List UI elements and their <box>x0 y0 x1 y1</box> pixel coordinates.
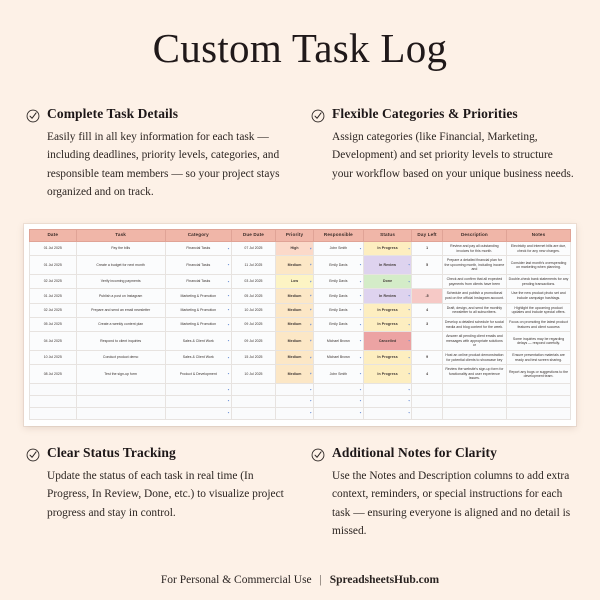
chevron-down-icon[interactable]: ▾ <box>408 356 410 359</box>
cell-due-date[interactable]: 09 Jul 2025 <box>231 332 275 351</box>
chevron-down-icon[interactable]: ▾ <box>310 400 312 403</box>
cell-status[interactable]: In Progress▾ <box>363 241 412 255</box>
cell-notes[interactable]: Electricity and internet bills are due, … <box>507 241 571 255</box>
cell-priority[interactable]: Medium▾ <box>276 350 314 364</box>
chevron-down-icon[interactable]: ▾ <box>360 373 362 376</box>
cell-status[interactable]: In Progress▾ <box>363 303 412 317</box>
priority-badge: Medium <box>278 354 312 362</box>
cell-priority[interactable]: Medium▾ <box>276 289 314 303</box>
priority-badge: Medium <box>278 306 312 314</box>
feature-additional-notes-for-clarity: Additional Notes for Clarity Use the Not… <box>311 446 574 541</box>
cell-category[interactable]: ▾Marketing & Promotion <box>165 289 231 303</box>
cell-empty[interactable] <box>507 395 571 407</box>
cell-date[interactable]: 01 Jul 2025 <box>30 256 77 275</box>
cell-responsible[interactable]: ▾Emily Davis <box>313 303 363 317</box>
cell-responsible[interactable]: ▾John Smith <box>313 241 363 255</box>
chevron-down-icon[interactable]: ▾ <box>360 356 362 359</box>
cell-day-left[interactable]: 4 <box>412 365 442 384</box>
cell-notes[interactable]: Double-check bank statements for any pen… <box>507 274 571 288</box>
feature-body: Update the status of each task in real t… <box>47 467 289 522</box>
cell-responsible[interactable]: ▾Emily Davis <box>313 317 363 331</box>
cell-empty[interactable] <box>507 407 571 419</box>
cell-empty[interactable] <box>76 384 165 396</box>
chevron-down-icon[interactable]: ▾ <box>408 400 410 403</box>
chevron-down-icon[interactable]: ▾ <box>408 373 410 376</box>
priority-badge: Medium <box>278 370 312 378</box>
cell-task[interactable]: Conduct product demo <box>76 350 165 364</box>
cell-task[interactable]: Create a budget for next month <box>76 256 165 275</box>
table-row[interactable]: 01 Jul 2025Publish a post on Instagram▾M… <box>30 289 571 303</box>
feature-body: Assign categories (like Financial, Marke… <box>332 128 574 183</box>
cell-responsible[interactable]: ▾Emily Davis <box>313 274 363 288</box>
chevron-down-icon[interactable]: ▾ <box>360 247 362 250</box>
feature-row-bottom: Clear Status Tracking Update the status … <box>0 446 600 541</box>
feature-heading: Additional Notes for Clarity <box>311 446 574 462</box>
feature-heading: Complete Task Details <box>26 107 289 123</box>
cell-due-date[interactable]: 10 Jul 2025 <box>231 303 275 317</box>
chevron-down-icon[interactable]: ▾ <box>310 247 312 250</box>
table-row[interactable]: 01 Jul 2025Pay the bills▾Financial Tasks… <box>30 241 571 255</box>
cell-empty[interactable]: ▾ <box>276 407 314 419</box>
chevron-down-icon[interactable]: ▾ <box>310 388 312 391</box>
chevron-down-icon[interactable]: ▾ <box>360 309 362 312</box>
chevron-down-icon[interactable]: ▾ <box>360 264 362 267</box>
cell-empty[interactable] <box>442 384 506 396</box>
chevron-down-icon[interactable]: ▾ <box>408 294 410 297</box>
chevron-down-icon[interactable]: ▾ <box>228 356 230 359</box>
cell-priority[interactable]: Low▾ <box>276 274 314 288</box>
cell-notes[interactable]: Highlight the upcoming product updates a… <box>507 303 571 317</box>
chevron-down-icon[interactable]: ▾ <box>408 323 410 326</box>
cell-notes[interactable]: Use the new product photo set and includ… <box>507 289 571 303</box>
cell-empty[interactable] <box>412 384 442 396</box>
column-header-due-date[interactable]: Due Date <box>231 229 275 241</box>
cell-description[interactable]: Draft, design, and send the monthly news… <box>442 303 506 317</box>
table-row-empty[interactable]: ▾▾▾▾ <box>30 407 571 419</box>
chevron-down-icon[interactable]: ▾ <box>228 264 230 267</box>
feature-row-top: Complete Task Details Easily fill in all… <box>0 107 600 202</box>
column-header-priority[interactable]: Priority <box>276 229 314 241</box>
cell-day-left[interactable]: -5 <box>412 289 442 303</box>
cell-empty[interactable]: ▾ <box>313 384 363 396</box>
cell-description[interactable]: Review and pay all outstanding invoices … <box>442 241 506 255</box>
column-header-notes[interactable]: Notes <box>507 229 571 241</box>
priority-badge: Medium <box>278 337 312 345</box>
footer-brand[interactable]: SpreadsheetsHub.com <box>330 574 439 586</box>
cell-empty[interactable]: ▾ <box>165 407 231 419</box>
chevron-down-icon[interactable]: ▾ <box>228 388 230 391</box>
cell-description[interactable]: Answer all pending client emails and mes… <box>442 332 506 351</box>
table-row[interactable]: 02 Jul 2025Verify incoming payments▾Fina… <box>30 274 571 288</box>
priority-badge: Medium <box>278 261 312 269</box>
cell-empty[interactable] <box>231 384 275 396</box>
priority-badge: Medium <box>278 321 312 329</box>
feature-title: Flexible Categories & Priorities <box>332 107 518 122</box>
footer: For Personal & Commercial Use | Spreadsh… <box>0 574 600 586</box>
cell-empty[interactable]: ▾ <box>165 395 231 407</box>
cell-category[interactable]: ▾Product & Development <box>165 365 231 384</box>
page-title: Custom Task Log <box>0 0 600 69</box>
cell-empty[interactable] <box>30 384 77 396</box>
feature-complete-task-details: Complete Task Details Easily fill in all… <box>26 107 289 202</box>
cell-date[interactable]: 04 Jul 2025 <box>30 332 77 351</box>
cell-notes[interactable]: Ensure presentation materials are ready … <box>507 350 571 364</box>
priority-badge: High <box>278 245 312 253</box>
feature-heading: Flexible Categories & Priorities <box>311 107 574 123</box>
cell-empty[interactable]: ▾ <box>313 395 363 407</box>
check-circle-icon <box>311 109 325 123</box>
cell-due-date[interactable]: 11 Jul 2025 <box>231 256 275 275</box>
footer-usage-text: For Personal & Commercial Use <box>161 574 312 586</box>
status-badge: In Progress <box>365 245 410 253</box>
cell-category[interactable]: ▾Marketing & Promotion <box>165 303 231 317</box>
chevron-down-icon[interactable]: ▾ <box>310 280 312 283</box>
cell-empty[interactable]: ▾ <box>313 407 363 419</box>
cell-status[interactable]: Done▾ <box>363 274 412 288</box>
cell-description[interactable]: Prepare a detailed financial plan for th… <box>442 256 506 275</box>
chevron-down-icon[interactable]: ▾ <box>228 247 230 250</box>
chevron-down-icon[interactable]: ▾ <box>360 340 362 343</box>
status-badge: Done <box>365 278 410 286</box>
chevron-down-icon[interactable]: ▾ <box>228 400 230 403</box>
cell-responsible[interactable]: ▾Michael Brown <box>313 332 363 351</box>
feature-body: Easily fill in all key information for e… <box>47 128 289 202</box>
cell-task[interactable]: Verify incoming payments <box>76 274 165 288</box>
cell-empty[interactable] <box>231 395 275 407</box>
cell-empty[interactable] <box>76 395 165 407</box>
cell-empty[interactable] <box>442 395 506 407</box>
chevron-down-icon[interactable]: ▾ <box>360 412 362 415</box>
cell-empty[interactable] <box>76 407 165 419</box>
cell-notes[interactable]: Focus on promoting the latest product fe… <box>507 317 571 331</box>
chevron-down-icon[interactable]: ▾ <box>408 264 410 267</box>
cell-task[interactable]: Respond to client inquiries <box>76 332 165 351</box>
status-badge: In Progress <box>365 321 410 329</box>
cell-notes[interactable]: Report any bugs or suggestions to the de… <box>507 365 571 384</box>
cell-category[interactable]: ▾Sales & Client Work <box>165 332 231 351</box>
cell-notes[interactable]: Consider last month's overspending on ma… <box>507 256 571 275</box>
feature-body: Use the Notes and Description columns to… <box>332 467 574 541</box>
cell-empty[interactable] <box>412 395 442 407</box>
chevron-down-icon[interactable]: ▾ <box>360 388 362 391</box>
column-header-status[interactable]: Status <box>363 229 412 241</box>
chevron-down-icon[interactable]: ▾ <box>228 373 230 376</box>
cell-due-date[interactable]: 09 Jul 2025 <box>231 317 275 331</box>
footer-separator: | <box>320 574 322 586</box>
table-row-empty[interactable]: ▾▾▾▾ <box>30 384 571 396</box>
cell-priority[interactable]: Medium▾ <box>276 256 314 275</box>
cell-task[interactable]: Create a weekly content plan <box>76 317 165 331</box>
cell-due-date[interactable]: 05 Jul 2025 <box>231 289 275 303</box>
cell-category[interactable]: ▾Financial Tasks <box>165 241 231 255</box>
cell-date[interactable]: 01 Jul 2025 <box>30 289 77 303</box>
cell-status[interactable]: In Progress▾ <box>363 365 412 384</box>
column-header-day-left[interactable]: Day Left <box>412 229 442 241</box>
cell-task[interactable]: Publish a post on Instagram <box>76 289 165 303</box>
cell-responsible[interactable]: ▾John Smith <box>313 365 363 384</box>
task-log-table: Date Task Category Due Date Priority Res… <box>29 229 571 420</box>
chevron-down-icon[interactable]: ▾ <box>228 294 230 297</box>
cell-date[interactable]: 02 Jul 2025 <box>30 274 77 288</box>
chevron-down-icon[interactable]: ▾ <box>228 340 230 343</box>
chevron-down-icon[interactable]: ▾ <box>408 280 410 283</box>
table-row[interactable]: 01 Jul 2025Create a budget for next mont… <box>30 256 571 275</box>
table-row-empty[interactable]: ▾▾▾▾ <box>30 395 571 407</box>
cell-priority[interactable]: Medium▾ <box>276 365 314 384</box>
column-header-responsible[interactable]: Responsible <box>313 229 363 241</box>
cell-day-left[interactable]: 3 <box>412 317 442 331</box>
cell-due-date[interactable]: 07 Jul 2025 <box>231 241 275 255</box>
cell-due-date[interactable]: 10 Jul 2025 <box>231 365 275 384</box>
status-badge: In Progress <box>365 306 410 314</box>
table-row[interactable]: 02 Jul 2025Prepare and send an email new… <box>30 303 571 317</box>
cell-description[interactable]: Review the website's sign-up form for fu… <box>442 365 506 384</box>
status-badge: In Progress <box>365 370 410 378</box>
cell-empty[interactable]: ▾ <box>276 384 314 396</box>
chevron-down-icon[interactable]: ▾ <box>310 323 312 326</box>
chevron-down-icon[interactable]: ▾ <box>408 412 410 415</box>
chevron-down-icon[interactable]: ▾ <box>408 247 410 250</box>
status-badge: In Progress <box>365 354 410 362</box>
cell-category[interactable]: ▾Sales & Client Work <box>165 350 231 364</box>
cell-task[interactable]: Prepare and send an email newsletter <box>76 303 165 317</box>
cell-status[interactable]: In Progress▾ <box>363 317 412 331</box>
cell-category[interactable]: ▾Financial Tasks <box>165 274 231 288</box>
cell-day-left[interactable]: 5 <box>412 256 442 275</box>
cell-empty[interactable] <box>442 407 506 419</box>
cell-category[interactable]: ▾Financial Tasks <box>165 256 231 275</box>
column-header-date[interactable]: Date <box>30 229 77 241</box>
cell-responsible[interactable]: ▾Emily Davis <box>313 256 363 275</box>
chevron-down-icon[interactable]: ▾ <box>228 323 230 326</box>
priority-badge: Medium <box>278 292 312 300</box>
cell-date[interactable]: 01 Jul 2025 <box>30 241 77 255</box>
cell-description[interactable]: Schedule and publish a promotional post … <box>442 289 506 303</box>
check-circle-icon <box>26 448 40 462</box>
cell-empty[interactable] <box>507 384 571 396</box>
chevron-down-icon[interactable]: ▾ <box>310 340 312 343</box>
status-badge: Cancelled <box>365 337 410 345</box>
cell-responsible[interactable]: ▾Emily Davis <box>313 289 363 303</box>
cell-empty[interactable] <box>231 407 275 419</box>
cell-empty[interactable]: ▾ <box>276 395 314 407</box>
chevron-down-icon[interactable]: ▾ <box>310 356 312 359</box>
feature-clear-status-tracking: Clear Status Tracking Update the status … <box>26 446 289 541</box>
chevron-down-icon[interactable]: ▾ <box>310 264 312 267</box>
cell-category[interactable]: ▾Marketing & Promotion <box>165 317 231 331</box>
feature-title: Clear Status Tracking <box>47 446 176 461</box>
priority-badge: Low <box>278 278 312 286</box>
cell-day-left[interactable] <box>412 332 442 351</box>
chevron-down-icon[interactable]: ▾ <box>310 309 312 312</box>
column-header-description[interactable]: Description <box>442 229 506 241</box>
cell-empty[interactable]: ▾ <box>363 407 412 419</box>
cell-date[interactable]: 10 Jul 2025 <box>30 350 77 364</box>
status-badge: In Review <box>365 292 410 300</box>
cell-day-left[interactable] <box>412 274 442 288</box>
cell-status[interactable]: In Review▾ <box>363 289 412 303</box>
check-circle-icon <box>26 109 40 123</box>
cell-day-left[interactable]: 9 <box>412 350 442 364</box>
cell-empty[interactable]: ▾ <box>363 384 412 396</box>
status-badge: In Review <box>365 261 410 269</box>
chevron-down-icon[interactable]: ▾ <box>228 280 230 283</box>
cell-priority[interactable]: High▾ <box>276 241 314 255</box>
feature-title: Additional Notes for Clarity <box>332 446 497 461</box>
cell-task[interactable]: Pay the bills <box>76 241 165 255</box>
cell-empty[interactable] <box>412 407 442 419</box>
cell-description[interactable]: Host an online product demonstration for… <box>442 350 506 364</box>
chevron-down-icon[interactable]: ▾ <box>408 388 410 391</box>
chevron-down-icon[interactable]: ▾ <box>408 340 410 343</box>
chevron-down-icon[interactable]: ▾ <box>228 309 230 312</box>
cell-priority[interactable]: Medium▾ <box>276 303 314 317</box>
cell-description[interactable]: Develop a detailed schedule for social m… <box>442 317 506 331</box>
cell-status[interactable]: In Progress▾ <box>363 350 412 364</box>
cell-due-date[interactable]: 03 Jul 2025 <box>231 274 275 288</box>
cell-responsible[interactable]: ▾Michael Brown <box>313 350 363 364</box>
cell-empty[interactable]: ▾ <box>165 384 231 396</box>
cell-priority[interactable]: Medium▾ <box>276 332 314 351</box>
table-row[interactable]: 05 Jul 2025Create a weekly content plan▾… <box>30 317 571 331</box>
chevron-down-icon[interactable]: ▾ <box>360 280 362 283</box>
chevron-down-icon[interactable]: ▾ <box>408 309 410 312</box>
table-row[interactable]: 10 Jul 2025Conduct product demo▾Sales & … <box>30 350 571 364</box>
column-header-category[interactable]: Category <box>165 229 231 241</box>
cell-status[interactable]: In Review▾ <box>363 256 412 275</box>
chevron-down-icon[interactable]: ▾ <box>310 294 312 297</box>
cell-empty[interactable]: ▾ <box>363 395 412 407</box>
page-root: Custom Task Log Complete Task Details Ea… <box>0 0 600 600</box>
chevron-down-icon[interactable]: ▾ <box>360 400 362 403</box>
chevron-down-icon[interactable]: ▾ <box>228 412 230 415</box>
table-row[interactable]: 04 Jul 2025Respond to client inquiries▾S… <box>30 332 571 351</box>
cell-priority[interactable]: Medium▾ <box>276 317 314 331</box>
cell-date[interactable]: 05 Jul 2025 <box>30 317 77 331</box>
cell-due-date[interactable]: 15 Jul 2025 <box>231 350 275 364</box>
chevron-down-icon[interactable]: ▾ <box>360 294 362 297</box>
check-circle-icon <box>311 448 325 462</box>
table-body: 01 Jul 2025Pay the bills▾Financial Tasks… <box>30 241 571 419</box>
feature-heading: Clear Status Tracking <box>26 446 289 462</box>
column-header-task[interactable]: Task <box>76 229 165 241</box>
feature-title: Complete Task Details <box>47 107 178 122</box>
cell-empty[interactable] <box>30 407 77 419</box>
cell-notes[interactable]: Some inquiries may be regarding delays —… <box>507 332 571 351</box>
cell-day-left[interactable]: 4 <box>412 303 442 317</box>
cell-day-left[interactable]: 1 <box>412 241 442 255</box>
chevron-down-icon[interactable]: ▾ <box>310 412 312 415</box>
cell-empty[interactable] <box>30 395 77 407</box>
table-header-row: Date Task Category Due Date Priority Res… <box>30 229 571 241</box>
chevron-down-icon[interactable]: ▾ <box>360 323 362 326</box>
cell-task[interactable]: Test the sign-up form <box>76 365 165 384</box>
table-row[interactable]: 08 Jul 2025Test the sign-up form▾Product… <box>30 365 571 384</box>
cell-date[interactable]: 02 Jul 2025 <box>30 303 77 317</box>
chevron-down-icon[interactable]: ▾ <box>310 373 312 376</box>
cell-description[interactable]: Check and confirm that all expected paym… <box>442 274 506 288</box>
cell-status[interactable]: Cancelled▾ <box>363 332 412 351</box>
feature-flexible-categories-priorities: Flexible Categories & Priorities Assign … <box>311 107 574 202</box>
cell-date[interactable]: 08 Jul 2025 <box>30 365 77 384</box>
spreadsheet-card: Date Task Category Due Date Priority Res… <box>24 224 576 426</box>
